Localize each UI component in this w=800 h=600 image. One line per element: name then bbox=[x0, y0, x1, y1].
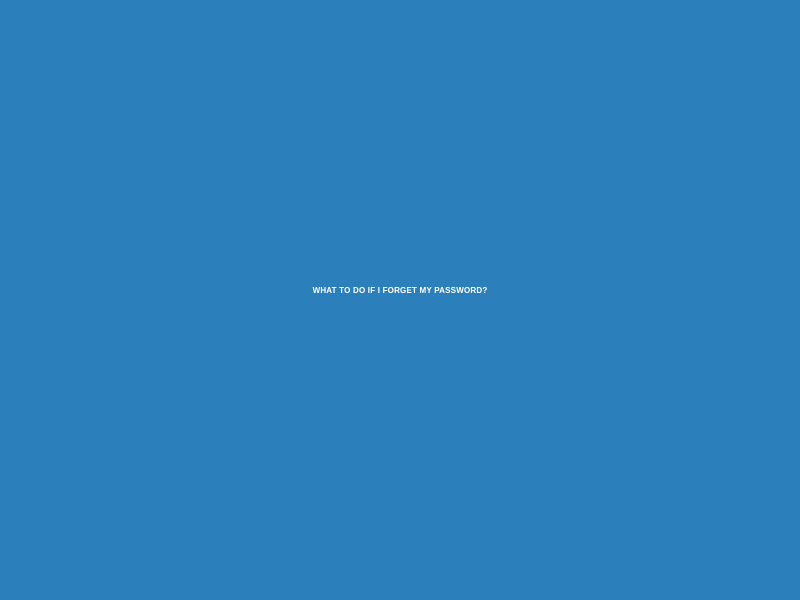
hero-banner: WHAT TO DO IF I FORGET MY PASSWORD? bbox=[0, 0, 800, 600]
hero-title-container: WHAT TO DO IF I FORGET MY PASSWORD? bbox=[0, 0, 800, 600]
page-title: WHAT TO DO IF I FORGET MY PASSWORD? bbox=[0, 286, 800, 295]
